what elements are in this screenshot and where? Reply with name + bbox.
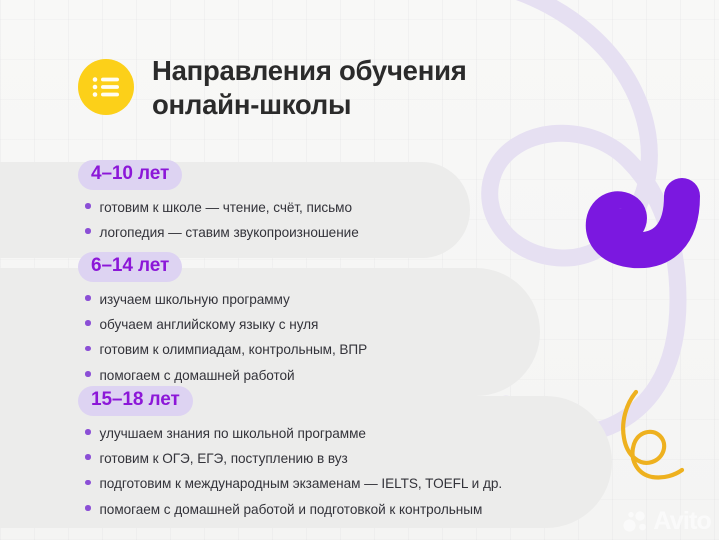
bullet-dot-icon bbox=[85, 371, 91, 377]
avito-watermark: Avito bbox=[623, 509, 711, 534]
list-item-label: готовим к школе — чтение, счёт, письмо bbox=[100, 199, 352, 217]
age-badge: 6–14 лет bbox=[78, 252, 182, 282]
list-item-label: помогаем с домашней работой и подготовко… bbox=[100, 501, 483, 519]
age-group-3: 15–18 лет улучшаем знания по школьной пр… bbox=[78, 386, 502, 519]
age-group-1: 4–10 лет готовим к школе — чтение, счёт,… bbox=[78, 160, 359, 242]
list-item-label: готовим к ОГЭ, ЕГЭ, поступлению в вуз bbox=[100, 450, 348, 468]
list-item-label: подготовим к международным экзаменам — I… bbox=[100, 475, 503, 493]
list-item-label: изучаем школьную программу bbox=[100, 291, 290, 309]
page-title: Направления обучения онлайн-школы bbox=[152, 52, 467, 121]
bullet-dot-icon bbox=[85, 203, 91, 209]
list-item: готовим к олимпиадам, контрольным, ВПР bbox=[85, 341, 367, 359]
list-item: улучшаем знания по школьной программе bbox=[85, 425, 502, 443]
avito-dots-logo-icon bbox=[623, 511, 649, 533]
list-item: обучаем английскому языку с нуля bbox=[85, 316, 367, 334]
bullet-dot-icon bbox=[85, 295, 91, 301]
list-item: готовим к ОГЭ, ЕГЭ, поступлению в вуз bbox=[85, 450, 502, 468]
bulleted-list-icon bbox=[91, 75, 121, 99]
list-item-label: улучшаем знания по школьной программе bbox=[100, 425, 366, 443]
feature-list: изучаем школьную программу обучаем англи… bbox=[78, 291, 367, 385]
bullet-dot-icon bbox=[85, 480, 91, 486]
avito-wordmark: Avito bbox=[653, 509, 711, 534]
list-item: помогаем с домашней работой и подготовко… bbox=[85, 501, 502, 519]
list-item-label: готовим к олимпиадам, контрольным, ВПР bbox=[100, 341, 368, 359]
age-group-2: 6–14 лет изучаем школьную программу обуч… bbox=[78, 252, 367, 385]
bullet-dot-icon bbox=[85, 346, 91, 352]
bullet-dot-icon bbox=[85, 429, 91, 435]
bullet-dot-icon bbox=[85, 228, 91, 234]
feature-list: готовим к школе — чтение, счёт, письмо л… bbox=[78, 199, 359, 243]
list-item: логопедия — ставим звукопроизношение bbox=[85, 224, 359, 242]
age-badge: 4–10 лет bbox=[78, 160, 182, 190]
list-item: помогаем с домашней работой bbox=[85, 367, 367, 385]
feature-list: улучшаем знания по школьной программе го… bbox=[78, 425, 502, 519]
list-item: подготовим к международным экзаменам — I… bbox=[85, 475, 502, 493]
banner-header: Направления обучения онлайн-школы bbox=[78, 52, 467, 121]
bullet-dot-icon bbox=[85, 454, 91, 460]
list-item: изучаем школьную программу bbox=[85, 291, 367, 309]
promo-banner: Направления обучения онлайн-школы 4–10 л… bbox=[0, 0, 719, 540]
list-item-label: логопедия — ставим звукопроизношение bbox=[100, 224, 359, 242]
bullet-dot-icon bbox=[85, 505, 91, 511]
list-item-label: помогаем с домашней работой bbox=[100, 367, 295, 385]
list-item: готовим к школе — чтение, счёт, письмо bbox=[85, 199, 359, 217]
bulleted-list-badge bbox=[78, 59, 134, 115]
age-badge: 15–18 лет bbox=[78, 386, 193, 416]
list-item-label: обучаем английскому языку с нуля bbox=[100, 316, 319, 334]
bullet-dot-icon bbox=[85, 320, 91, 326]
